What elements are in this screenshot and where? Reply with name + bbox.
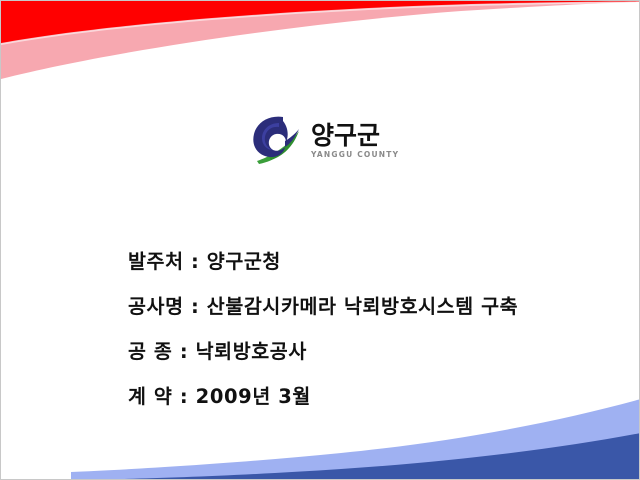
dark-blue-swoosh-shape (121, 433, 640, 480)
info-line-project-name: 공사명 : 산불감시카메라 낙뢰방호시스템 구축 (128, 284, 598, 329)
logo-name-english: YANGGU COUNTY (311, 150, 399, 159)
title-slide: 양구군 YANGGU COUNTY 발주처 : 양구군청 공사명 : 산불감시카… (0, 0, 640, 480)
pink-swoosh-shape (1, 1, 640, 79)
logo-name-korean: 양구군 (311, 123, 380, 149)
yanggu-county-logo: 양구군 YANGGU COUNTY (249, 109, 401, 171)
yanggu-county-emblem-icon (249, 111, 307, 169)
info-line-contract-date: 계 약 : 2009년 3월 (128, 374, 598, 419)
project-info-block: 발주처 : 양구군청 공사명 : 산불감시카메라 낙뢰방호시스템 구축 공 종 … (128, 239, 598, 419)
red-swoosh-shape (1, 1, 640, 43)
swoosh-highlight (1, 2, 640, 45)
logo-wordmark: 양구군 YANGGU COUNTY (311, 121, 399, 159)
info-line-work-type: 공 종 : 낙뢰방호공사 (128, 329, 598, 374)
swoosh-icon (253, 117, 287, 157)
info-line-client: 발주처 : 양구군청 (128, 239, 598, 284)
